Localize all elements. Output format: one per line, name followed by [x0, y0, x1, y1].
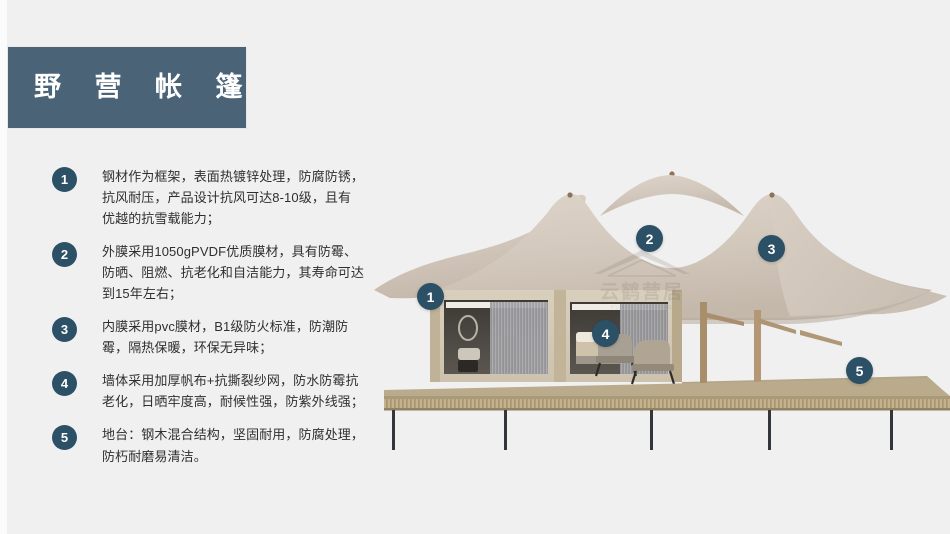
feature-list: 1 钢材作为框架，表面热镀锌处理，防腐防锈，抗风耐压，产品设计抗风可达8-10级…: [52, 166, 372, 467]
list-item: 2 外膜采用1050gPVDF优质膜材，具有防霉、防晒、阻燃、抗老化和自洁能力，…: [52, 241, 372, 304]
canopy-center-peak: [600, 175, 744, 216]
feature-text-3: 内膜采用pvc膜材，B1级防火标准，防潮防霉，隔热保暖，环保无异味；: [102, 316, 364, 358]
callout-badge-4[interactable]: 4: [592, 320, 619, 347]
deck-stilt-3: [650, 410, 653, 450]
feature-text-5: 地台：钢木混合结构，坚固耐用，防腐处理，防朽耐磨易清洁。: [102, 424, 364, 466]
slide-root: 野 营 帐 篷 1 钢材作为框架，表面热镀锌处理，防腐防锈，抗风耐压，产品设计抗…: [0, 0, 950, 534]
bathroom-basket: [458, 360, 478, 372]
list-item: 3 内膜采用pvc膜材，B1级防火标准，防潮防霉，隔热保暖，环保无异味；: [52, 316, 372, 358]
feature-badge-5: 5: [52, 425, 77, 450]
tent-illustration: [372, 150, 950, 450]
canopy-peak-left: [567, 192, 572, 197]
feature-text-2: 外膜采用1050gPVDF优质膜材，具有防霉、防晒、阻燃、抗老化和自洁能力，其寿…: [102, 241, 364, 304]
deck-stilt-2: [504, 410, 507, 450]
list-item: 5 地台：钢木混合结构，坚固耐用，防腐处理，防朽耐磨易清洁。: [52, 424, 372, 466]
feature-badge-3: 3: [52, 317, 77, 342]
canopy-peak-right: [769, 192, 774, 197]
title-banner: 野 营 帐 篷: [8, 47, 246, 128]
pole-arm-outer: [800, 330, 842, 346]
deck-stilt-4: [768, 410, 771, 450]
bathroom-sink: [458, 348, 480, 360]
deck-edge-top-trim: [384, 396, 950, 399]
canopy-right-wing: [772, 194, 947, 316]
left-edge-strip: [0, 0, 7, 534]
deck-stilt-1: [392, 410, 395, 450]
feature-badge-4: 4: [52, 371, 77, 396]
deck-edge-bottom-trim: [384, 408, 950, 411]
page-title: 野 营 帐 篷: [8, 74, 256, 101]
list-item: 4 墙体采用加厚帆布+抗撕裂纱网，防水防霉抗老化，日晒牢度高，耐候性强，防紫外线…: [52, 370, 372, 412]
window-left-blinds: [490, 302, 548, 374]
feature-text-4: 墙体采用加厚帆布+抗撕裂纱网，防水防霉抗老化，日晒牢度高，耐候性强，防紫外线强；: [102, 370, 364, 412]
feature-text-1: 钢材作为框架，表面热镀锌处理，防腐防锈，抗风耐压，产品设计抗风可达8-10级，且…: [102, 166, 364, 229]
cabin-post-center: [554, 290, 566, 382]
deck-stilt-5: [890, 410, 893, 450]
deck-edge-slats: [384, 398, 950, 408]
callout-badge-1[interactable]: 1: [417, 283, 444, 310]
list-item: 1 钢材作为框架，表面热镀锌处理，防腐防锈，抗风耐压，产品设计抗风可达8-10级…: [52, 166, 372, 229]
callout-badge-2[interactable]: 2: [636, 225, 663, 252]
feature-badge-1: 1: [52, 167, 77, 192]
feature-badge-2: 2: [52, 242, 77, 267]
callout-badge-5[interactable]: 5: [846, 357, 873, 384]
callout-badge-3[interactable]: 3: [758, 235, 785, 262]
